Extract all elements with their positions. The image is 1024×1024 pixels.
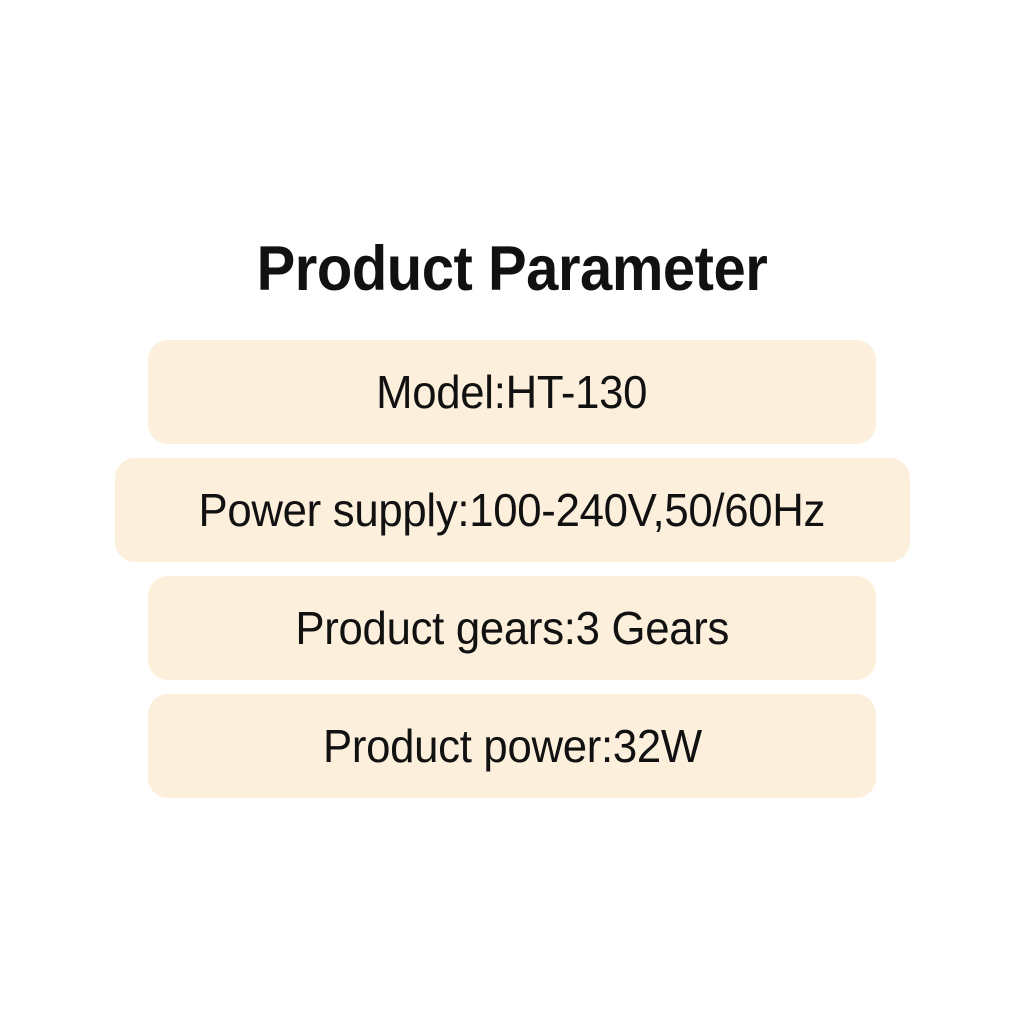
spec-row-product-gears: Product gears:3 Gears <box>148 576 876 680</box>
spec-row-model: Model:HT-130 <box>148 340 876 444</box>
spec-row-text: Model:HT-130 <box>376 366 647 418</box>
product-parameter-card: Product Parameter Model:HT-130 Power sup… <box>0 0 1024 1024</box>
spec-row-text: Power supply:100-240V,50/60Hz <box>199 484 826 536</box>
spec-row-text: Product power:32W <box>323 720 702 772</box>
spec-row-text: Product gears:3 Gears <box>295 602 729 654</box>
spec-row-power-supply: Power supply:100-240V,50/60Hz <box>115 458 910 562</box>
page-title: Product Parameter <box>41 234 983 304</box>
spec-list: Model:HT-130 Power supply:100-240V,50/60… <box>0 340 1024 798</box>
spec-row-product-power: Product power:32W <box>148 694 876 798</box>
